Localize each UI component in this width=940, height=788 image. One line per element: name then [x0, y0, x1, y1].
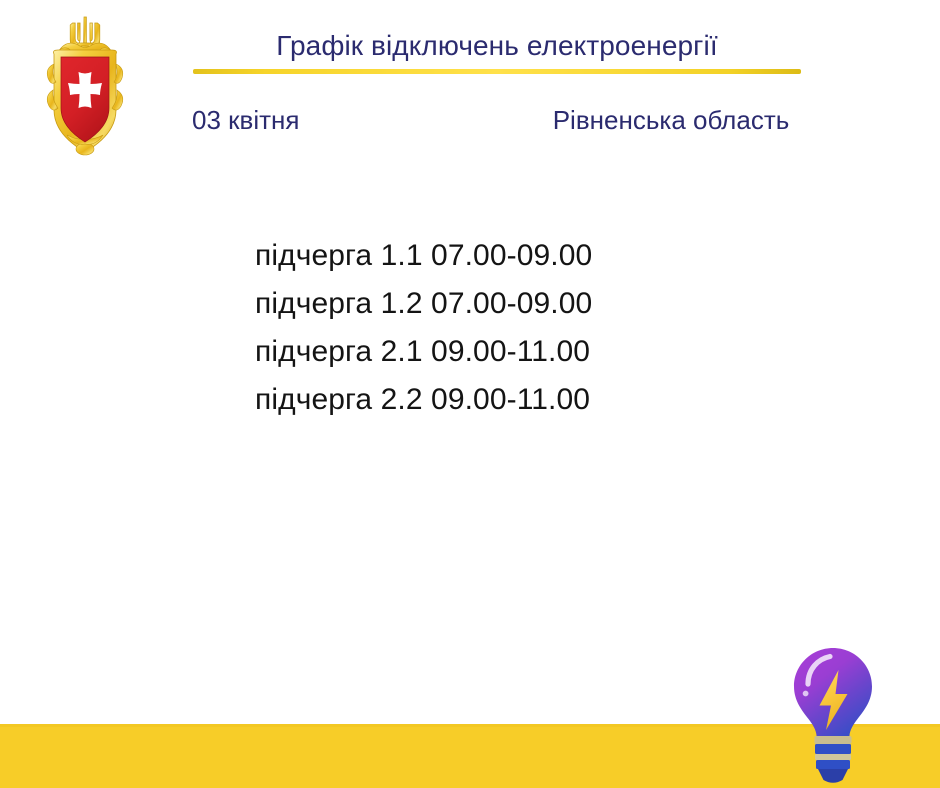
page-title: Графік відключень електроенергії — [193, 29, 801, 63]
subtitle-row: 03 квітня Рівненська область — [0, 103, 940, 143]
header: Графік відключень електроенергії 03 квіт… — [0, 0, 940, 150]
schedule-line: підчерга 2.2 09.00-11.00 — [255, 376, 775, 424]
region-name: Рівненська область — [516, 103, 826, 137]
lightbulb-with-bolt-icon — [786, 644, 880, 788]
schedule-list: підчерга 1.1 07.00-09.00 підчерга 1.2 07… — [255, 232, 775, 424]
schedule-line: підчерга 1.1 07.00-09.00 — [255, 232, 775, 280]
title-underline-rule — [193, 69, 801, 74]
schedule-line: підчерга 2.1 09.00-11.00 — [255, 328, 775, 376]
schedule-line: підчерга 1.2 07.00-09.00 — [255, 280, 775, 328]
outage-schedule-slide: Графік відключень електроенергії 03 квіт… — [0, 0, 940, 788]
schedule-date: 03 квітня — [192, 103, 299, 137]
